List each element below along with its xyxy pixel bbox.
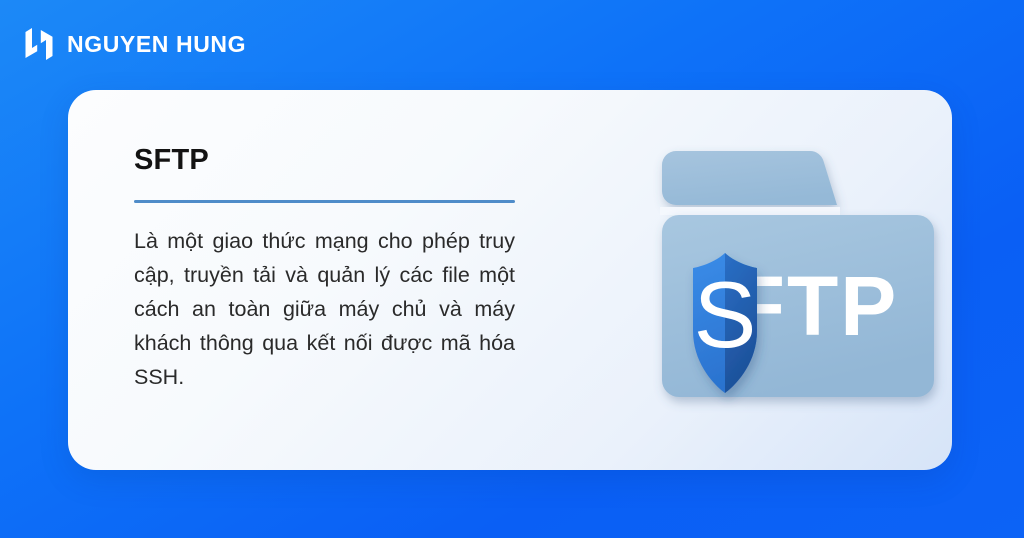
content-card: SFTP Là một giao thức mạng cho phép truy… [68,90,952,470]
title-divider [134,200,515,203]
folder-label: FTP [734,259,899,353]
card-text-column: SFTP Là một giao thức mạng cho phép truy… [134,145,516,415]
nguyen-hung-monogram-icon [24,25,54,63]
page-title: SFTP [134,145,516,177]
sftp-secure-folder-illustration: FTP S [588,135,908,455]
card-description: Là một giao thức mạng cho phép truy cập,… [134,224,515,394]
brand-logo[interactable]: NGUYEN HUNG [24,24,246,64]
folder-back-tab [662,151,837,205]
page-canvas: NGUYEN HUNG SFTP Là một giao thức mạng c… [0,0,1024,538]
brand-name: NGUYEN HUNG [67,33,246,56]
shield-letter: S [694,262,757,367]
